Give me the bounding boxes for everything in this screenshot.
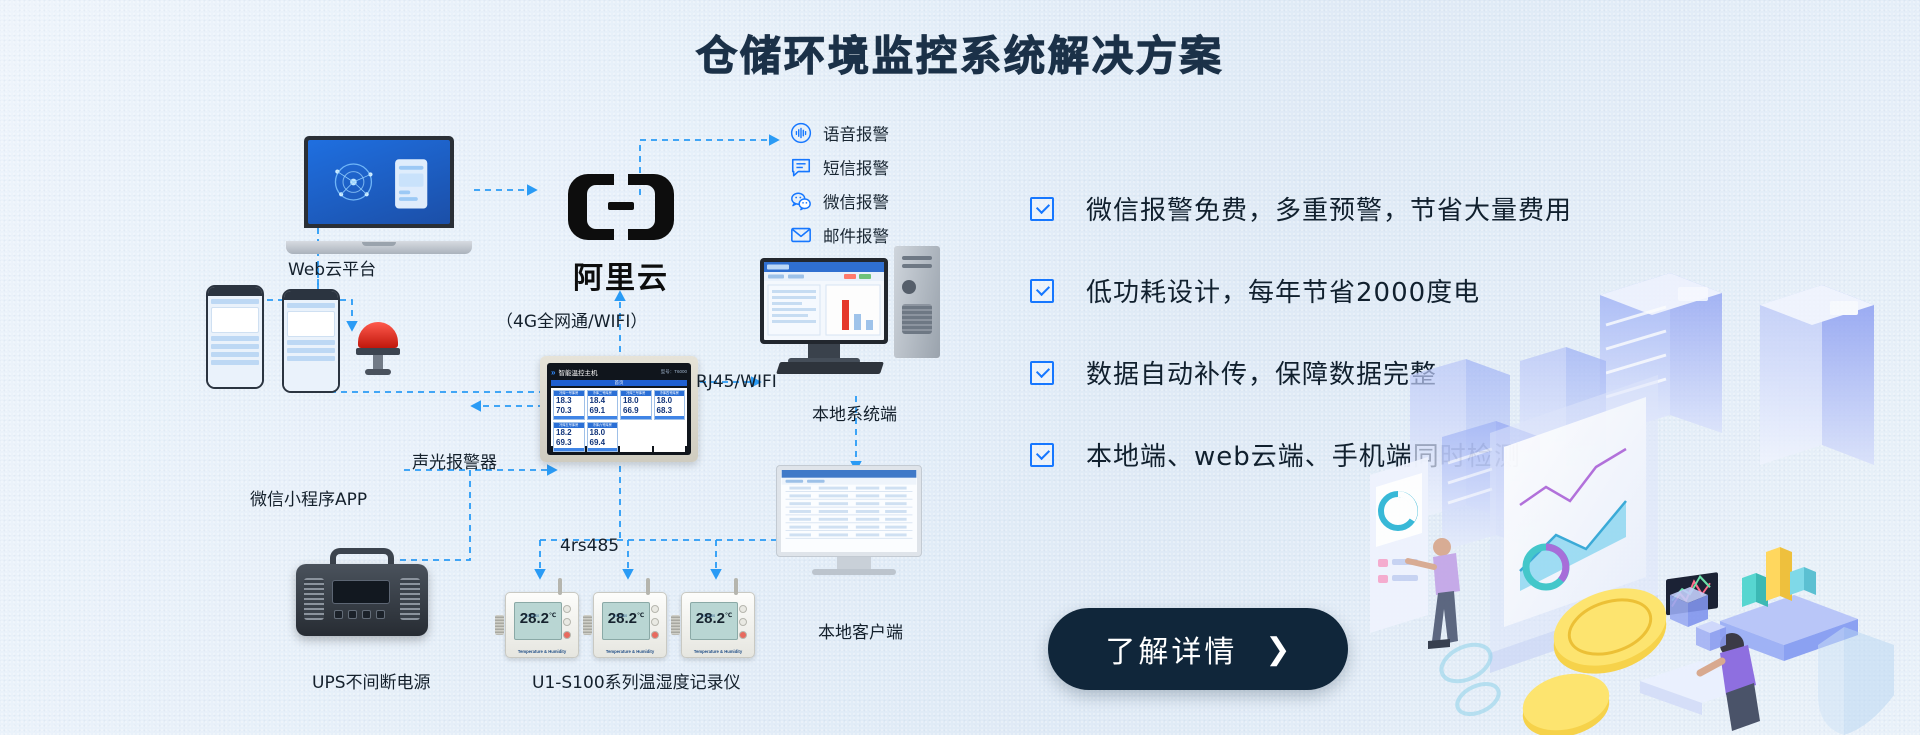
ups-outlet [348, 610, 357, 619]
sensor-button[interactable] [651, 605, 659, 613]
ups-vent-left [304, 578, 324, 620]
sensor-button[interactable] [739, 605, 747, 613]
sensor-button[interactable] [651, 618, 659, 626]
client-monitor-foot [812, 569, 896, 575]
phone-card [211, 307, 259, 333]
channel-temp: 18.0 [588, 428, 618, 438]
alarm-beacon-device [352, 322, 404, 378]
controller-channel: 冷库四号库房 18.0 68.3 [654, 390, 686, 420]
sensor-led [739, 631, 747, 639]
phone-screen [208, 296, 262, 387]
controller-channel-empty [654, 422, 686, 452]
aliyun-cloud-node: 阿里云 [552, 168, 690, 292]
checkbox-checked-icon [1030, 197, 1054, 221]
ups-device [296, 548, 428, 644]
channel-temp: 18.4 [588, 396, 618, 406]
sensor-antenna [734, 578, 738, 595]
phone-row [287, 356, 335, 361]
banner-stage: 仓储环境监控系统解决方案 [0, 0, 1920, 735]
phone-left [206, 285, 264, 389]
beacon-dome [358, 322, 398, 348]
voice-wave-icon [790, 122, 812, 144]
desktop-pc-device [760, 258, 940, 388]
laptop-device [286, 136, 472, 254]
channel-footer [588, 448, 618, 451]
sensor-probe [495, 615, 504, 635]
alarm-method-item: 邮件报警 [790, 220, 889, 250]
phone-right [282, 289, 340, 393]
controller-brand: 智能温控主机 [558, 367, 597, 377]
channel-footer [621, 416, 651, 419]
learn-more-label: 了解详情 [1105, 627, 1237, 671]
sensor-unit: ℃ [637, 613, 644, 619]
channel-temp: 18.2 [554, 428, 584, 438]
controller-channel: 冷库六号库房 18.0 69.4 [587, 422, 619, 452]
learn-more-button[interactable]: 了解详情 ❯ [1048, 608, 1348, 690]
channel-footer [655, 416, 685, 419]
phone-row [287, 303, 335, 308]
channel-footer [588, 416, 618, 419]
sensor-antenna [558, 578, 562, 595]
sensor-antenna [646, 578, 650, 595]
pc-monitor [760, 258, 888, 344]
sensor-lcd: U1-S100 28.2℃ [514, 602, 562, 640]
temp-humidity-sensor: U1-S100 28.2℃ Temperature & Humidity [593, 592, 667, 658]
sensor-button[interactable] [563, 618, 571, 626]
client-monitor-bezel [776, 465, 922, 557]
sensor-unit: ℃ [549, 613, 556, 619]
channel-hum: 69.1 [588, 406, 618, 416]
sensor-lcd: U1-S100 28.2℃ [690, 602, 738, 640]
label-network: （4G全网通/WIFI） [496, 307, 647, 332]
sensor-model: U1-S100 [613, 614, 627, 618]
alarm-method-label: 短信报警 [823, 155, 889, 179]
label-wechat-app: 微信小程序APP [250, 485, 367, 510]
ups-outlet [376, 610, 385, 619]
client-monitor-stand [837, 557, 871, 569]
sensor-led [651, 631, 659, 639]
phone-row [287, 348, 335, 353]
label-beacon: 声光报警器 [412, 448, 497, 473]
controller-channel: 冷库三号库房 18.0 66.9 [620, 390, 652, 420]
phone-row [211, 336, 259, 341]
phone-notch [208, 287, 262, 296]
phone-row [211, 360, 259, 365]
beacon-stem [373, 355, 383, 369]
laptop-screen-content [308, 140, 450, 224]
sensor-caption: Temperature & Humidity [682, 649, 754, 654]
label-sensors: U1-S100系列温湿度记录仪 [532, 668, 741, 693]
sensor-unit: ℃ [725, 613, 732, 619]
chevron-right-icon: ❯ [1265, 632, 1290, 667]
smartphone-pair [206, 285, 346, 395]
laptop-notch [362, 242, 396, 246]
phone-card [287, 311, 335, 337]
phone-notch [284, 291, 338, 300]
sensor-caption: Temperature & Humidity [594, 649, 666, 654]
page-title: 仓储环境监控系统解决方案 [0, 22, 1920, 82]
channel-hum: 69.4 [588, 438, 618, 448]
email-envelope-icon [790, 224, 812, 246]
alarm-method-list: 语音报警 短信报警 微信报警 [790, 118, 889, 254]
alarm-method-item: 短信报警 [790, 152, 889, 182]
temp-humidity-sensor: U1-S100 28.2℃ Temperature & Humidity [681, 592, 755, 658]
sensor-button[interactable] [739, 618, 747, 626]
controller-screen: » 智能温控主机 型号：T6000 首页 冷库一号库房 18.3 70.3 冷库… [547, 363, 691, 455]
label-local-system: 本地系统端 [812, 400, 897, 425]
channel-hum: 69.3 [554, 438, 584, 448]
checkbox-checked-icon [1030, 443, 1054, 467]
alarm-method-label: 微信报警 [823, 189, 889, 213]
aliyun-logo-icon [552, 168, 690, 246]
channel-temp: 18.0 [655, 396, 685, 406]
alarm-method-item: 语音报警 [790, 118, 889, 148]
controller-tab-bar: 首页 [551, 380, 687, 386]
channel-hum: 66.9 [621, 406, 651, 416]
smart-controller-device: » 智能温控主机 型号：T6000 首页 冷库一号库房 18.3 70.3 冷库… [540, 356, 698, 462]
sms-bubble-icon [790, 156, 812, 178]
channel-temp: 18.3 [554, 396, 584, 406]
label-rs485: 4rs485 [560, 536, 619, 556]
pc-screen-content [764, 262, 884, 340]
controller-serial: 型号：T6000 [661, 369, 687, 375]
phone-row [211, 352, 259, 357]
isometric-illustration [1370, 175, 1920, 735]
checkbox-checked-icon [1030, 361, 1054, 385]
laptop-screen [304, 136, 454, 228]
controller-channel: 冷库一号库房 18.3 70.3 [553, 390, 585, 420]
pc-monitor-stand [808, 344, 840, 358]
ups-outlet [362, 610, 371, 619]
laptop-base [286, 241, 472, 254]
label-web-cloud: Web云平台 [288, 255, 376, 280]
sensor-led [563, 631, 571, 639]
channel-hum: 70.3 [554, 406, 584, 416]
aliyun-logo-text: 阿里云 [552, 253, 690, 297]
label-local-client: 本地客户端 [818, 618, 903, 643]
ups-outlet [334, 610, 343, 619]
ups-display [332, 580, 390, 604]
pc-tower [894, 246, 940, 358]
label-rj45: RJ45/WIFI [696, 372, 777, 392]
channel-hum: 68.3 [655, 406, 685, 416]
controller-channel: 冷库五号库房 18.2 69.3 [553, 422, 585, 452]
beacon-collar [356, 348, 400, 355]
controller-channel: 冷库二号库房 18.4 69.1 [587, 390, 619, 420]
alarm-method-item: 微信报警 [790, 186, 889, 216]
temp-humidity-sensor: U1-S100 28.2℃ Temperature & Humidity [505, 592, 579, 658]
sensor-probe [583, 615, 592, 635]
controller-channel-empty [620, 422, 652, 452]
channel-footer [554, 416, 584, 419]
channel-footer [554, 448, 584, 451]
phone-row [211, 344, 259, 349]
sensor-model: U1-S100 [525, 614, 539, 618]
sensor-model: U1-S100 [701, 614, 715, 618]
checkbox-checked-icon [1030, 279, 1054, 303]
sensor-caption: Temperature & Humidity [506, 649, 578, 654]
alarm-method-label: 语音报警 [823, 121, 889, 145]
label-ups: UPS不间断电源 [312, 668, 431, 693]
wechat-icon [790, 190, 812, 212]
channel-temp: 18.0 [621, 396, 651, 406]
controller-header: » 智能温控主机 型号：T6000 [551, 367, 687, 377]
ups-handle [330, 548, 394, 564]
sensor-probe [671, 615, 680, 635]
sensor-button[interactable] [563, 605, 571, 613]
sensor-lcd: U1-S100 28.2℃ [602, 602, 650, 640]
phone-row [211, 299, 259, 304]
controller-channel-grid: 冷库一号库房 18.3 70.3 冷库二号库房 18.4 69.1 冷库三号库房… [551, 388, 687, 446]
alarm-method-label: 邮件报警 [823, 223, 889, 247]
ups-vent-right [400, 578, 420, 620]
ups-body [296, 564, 428, 636]
pc-keyboard [776, 362, 884, 374]
controller-chevron-icon: » [551, 368, 555, 377]
beacon-foot [365, 369, 391, 375]
phone-screen [284, 300, 338, 391]
phone-row [287, 340, 335, 345]
client-screen-content [781, 470, 917, 552]
client-monitor-device [776, 465, 932, 580]
